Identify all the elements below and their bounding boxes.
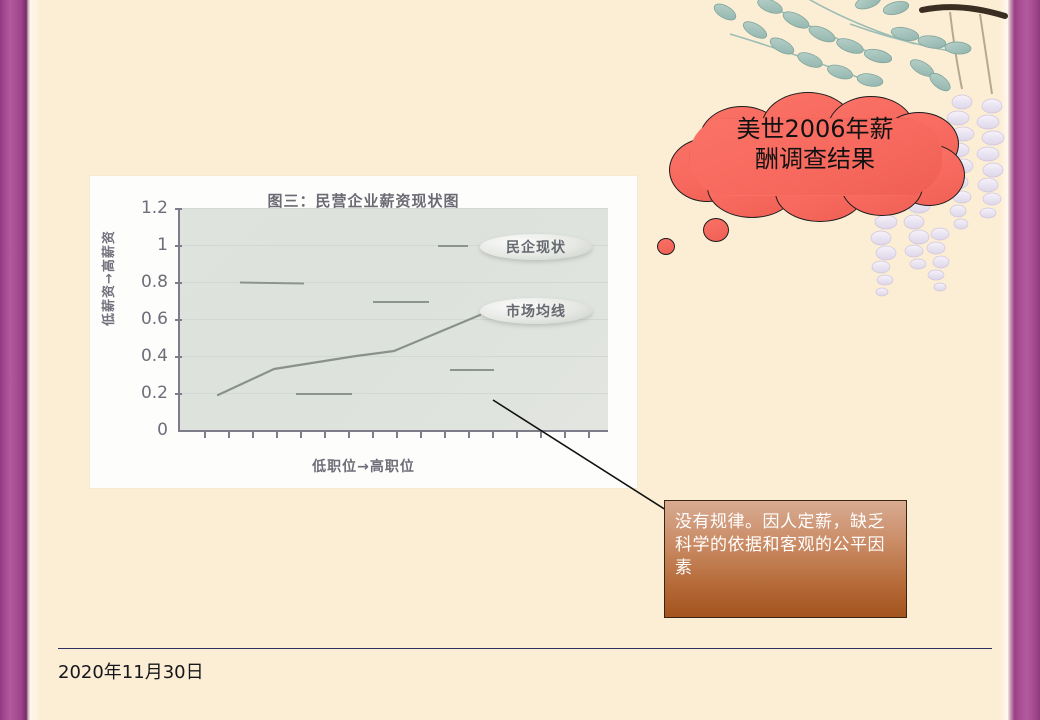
thought-bubble-text: 美世2006年薪 酬调查结果 bbox=[665, 114, 965, 174]
x-axis-tick bbox=[300, 430, 302, 438]
footer-date: 2020年11月30日 bbox=[58, 658, 204, 684]
left-purple-band bbox=[0, 0, 30, 720]
y-tick: 0.8 bbox=[112, 272, 168, 292]
bubble-line-2: 酬调查结果 bbox=[665, 144, 965, 174]
x-axis-tick bbox=[252, 430, 254, 438]
callout-connector-line bbox=[480, 390, 680, 520]
y-tick: 1 bbox=[112, 235, 168, 255]
x-axis-tick bbox=[276, 430, 278, 438]
x-axis-tick bbox=[228, 430, 230, 438]
legend-swatch-private bbox=[438, 245, 468, 247]
y-tick: 0.2 bbox=[112, 383, 168, 403]
right-band-inner-glow bbox=[1000, 0, 1008, 720]
slide-canvas: 图三：民营企业薪资现状图 低薪资→高薪资 1.2 1 0.8 0.6 0.4 0… bbox=[0, 0, 1040, 720]
y-tick: 0.4 bbox=[112, 346, 168, 366]
x-axis-tick bbox=[372, 430, 374, 438]
y-tick: 1.2 bbox=[112, 198, 168, 218]
y-tick: 0 bbox=[112, 420, 168, 440]
x-axis-tick bbox=[468, 430, 470, 438]
x-axis-tick bbox=[396, 430, 398, 438]
bubble-tail-large bbox=[703, 218, 729, 242]
bubble-line-1: 美世2006年薪 bbox=[665, 114, 965, 144]
thought-bubble: 美世2006年薪 酬调查结果 bbox=[665, 90, 965, 220]
callout-box: 没有规律。因人定薪，缺乏科学的依据和客观的公平因素 bbox=[664, 500, 907, 618]
chart-y-tick-labels: 1.2 1 0.8 0.6 0.4 0.2 0 bbox=[112, 208, 168, 430]
right-purple-band bbox=[1008, 0, 1040, 720]
bubble-tail-small bbox=[657, 238, 675, 255]
x-axis-tick bbox=[348, 430, 350, 438]
x-axis-tick bbox=[420, 430, 422, 438]
legend-text: 市场均线 bbox=[506, 301, 566, 321]
legend-label-private: 民企现状 bbox=[480, 234, 592, 260]
x-axis-tick bbox=[204, 430, 206, 438]
callout-text: 没有规律。因人定薪，缺乏科学的依据和客观的公平因素 bbox=[675, 512, 885, 578]
x-axis-tick bbox=[324, 430, 326, 438]
x-axis-tick bbox=[444, 430, 446, 438]
legend-label-market: 市场均线 bbox=[480, 298, 592, 324]
left-band-inner-glow bbox=[30, 0, 40, 720]
legend-text: 民企现状 bbox=[506, 237, 566, 257]
footer-divider bbox=[58, 648, 992, 649]
y-tick: 0.6 bbox=[112, 309, 168, 329]
